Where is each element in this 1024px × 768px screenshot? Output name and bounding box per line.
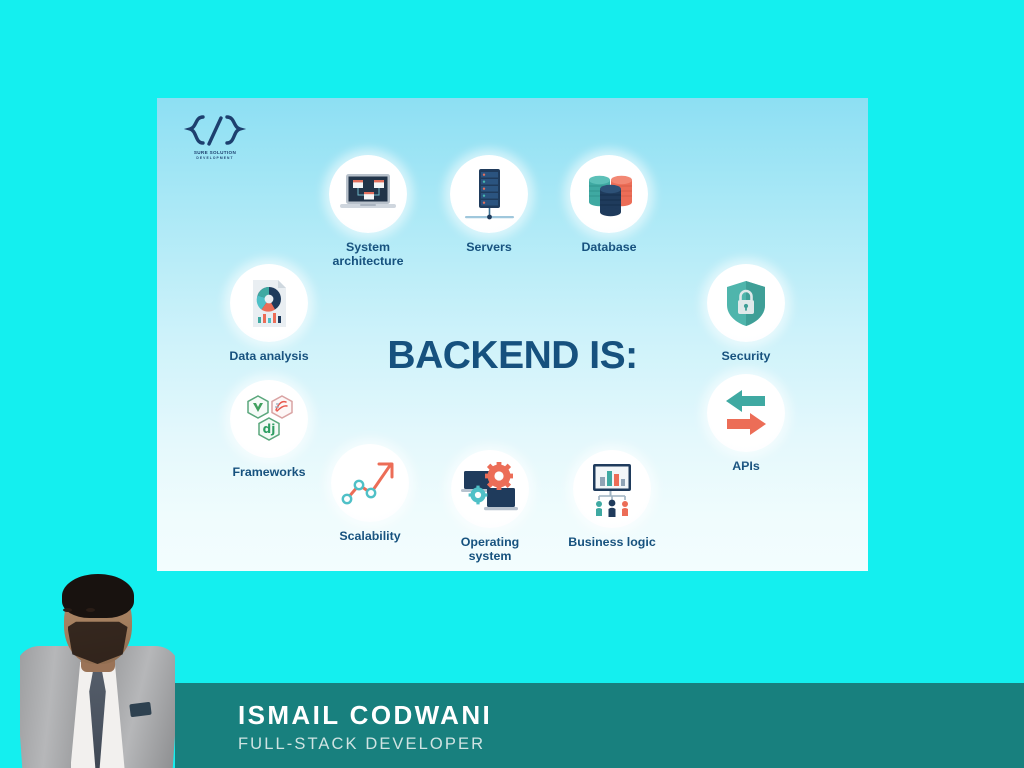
shield-lock-icon: [707, 264, 785, 342]
node-data-analysis[interactable]: Data analysis: [197, 264, 341, 363]
hair: [62, 574, 134, 618]
node-label: Operating system: [434, 535, 546, 563]
node-database[interactable]: Database: [554, 155, 664, 254]
presenter-photo: [20, 562, 175, 768]
node-label: Security: [691, 349, 801, 363]
node-label: Database: [554, 240, 664, 254]
node-label: APIs: [691, 459, 801, 473]
node-label: Frameworks: [195, 465, 343, 479]
presenter-name: ISMAIL CODWANI: [238, 700, 492, 731]
brand-tagline: DEVELOPMENT: [183, 156, 247, 160]
gears-computers-icon: [451, 450, 529, 528]
chart-monitor-people-icon: [573, 450, 651, 528]
right-eye: [86, 608, 95, 612]
presenter-banner: ISMAIL CODWANI FULL-STACK DEVELOPER: [175, 683, 1024, 768]
node-security[interactable]: Security: [691, 264, 801, 363]
framework-hexagons-icon: dj: [230, 380, 308, 458]
node-label: Data analysis: [197, 349, 341, 363]
pocket-square: [129, 702, 151, 717]
laptop-diagram-icon: [329, 155, 407, 233]
database-cylinders-icon: [570, 155, 648, 233]
left-eye: [63, 608, 72, 612]
report-charts-icon: [230, 264, 308, 342]
node-servers[interactable]: Servers: [434, 155, 544, 254]
node-label: Servers: [434, 240, 544, 254]
code-brackets-logo-icon: [183, 114, 247, 148]
two-arrows-icon: [707, 374, 785, 452]
node-operating-system[interactable]: Operating system: [434, 450, 546, 563]
svg-text:dj: dj: [263, 422, 276, 436]
node-label: Business logic: [554, 535, 670, 549]
slide-content: SURE SOLUTION DEVELOPMENT BACKEND IS: Sy…: [157, 98, 868, 571]
node-business-logic[interactable]: Business logic: [554, 450, 670, 549]
presenter-role: FULL-STACK DEVELOPER: [238, 735, 485, 754]
presentation-canvas: SURE SOLUTION DEVELOPMENT BACKEND IS: Sy…: [0, 0, 1024, 768]
server-rack-icon: [450, 155, 528, 233]
node-apis[interactable]: APIs: [691, 374, 801, 473]
node-frameworks[interactable]: dj Frameworks: [195, 380, 343, 479]
node-label: Scalability: [315, 529, 425, 543]
node-system-architecture[interactable]: System architecture: [313, 155, 423, 268]
brand-logo: SURE SOLUTION DEVELOPMENT: [183, 114, 247, 166]
